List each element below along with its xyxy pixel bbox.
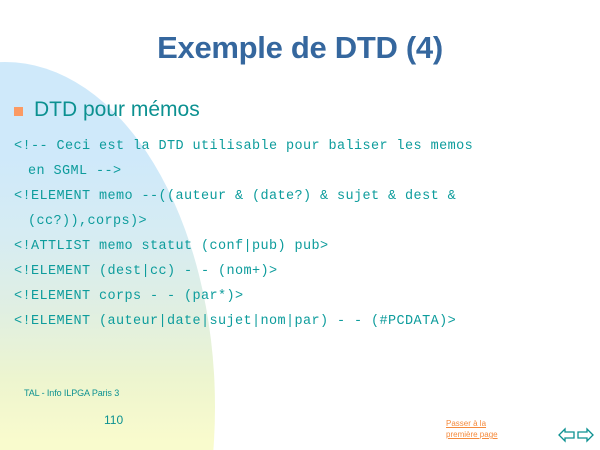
code-line: en SGML --> [14,159,594,184]
code-line: <!-- Ceci est la DTD utilisable pour bal… [14,134,594,159]
code-line: <!ATTLIST memo statut (conf|pub) pub> [14,234,594,259]
code-line: <!ELEMENT memo --((auteur & (date?) & su… [14,184,594,209]
left-arrow-shape [559,429,574,441]
bullet-heading-label: DTD pour mémos [34,99,200,120]
dtd-code-block: <!-- Ceci est la DTD utilisable pour bal… [14,134,594,334]
bullet-heading-row: DTD pour mémos [14,99,200,120]
code-line: <!ELEMENT (dest|cc) - - (nom+)> [14,259,594,284]
page-title: Exemple de DTD (4) [0,30,600,66]
footer-organization: TAL - Info ILPGA Paris 3 [24,388,119,398]
first-page-link[interactable]: Passer à la première page [446,418,516,440]
code-line: <!ELEMENT (auteur|date|sujet|nom|par) - … [14,309,594,334]
footer-page-number: 110 [104,413,123,427]
double-arrow-nav-icon[interactable] [558,426,594,444]
double-arrow-nav-glyph [558,426,594,444]
code-line: (cc?)),corps)> [14,209,594,234]
square-bullet-icon [14,107,23,116]
right-arrow-shape [578,429,593,441]
slide-canvas: Exemple de DTD (4) DTD pour mémos <!-- C… [0,0,600,450]
code-line: <!ELEMENT corps - - (par*)> [14,284,594,309]
